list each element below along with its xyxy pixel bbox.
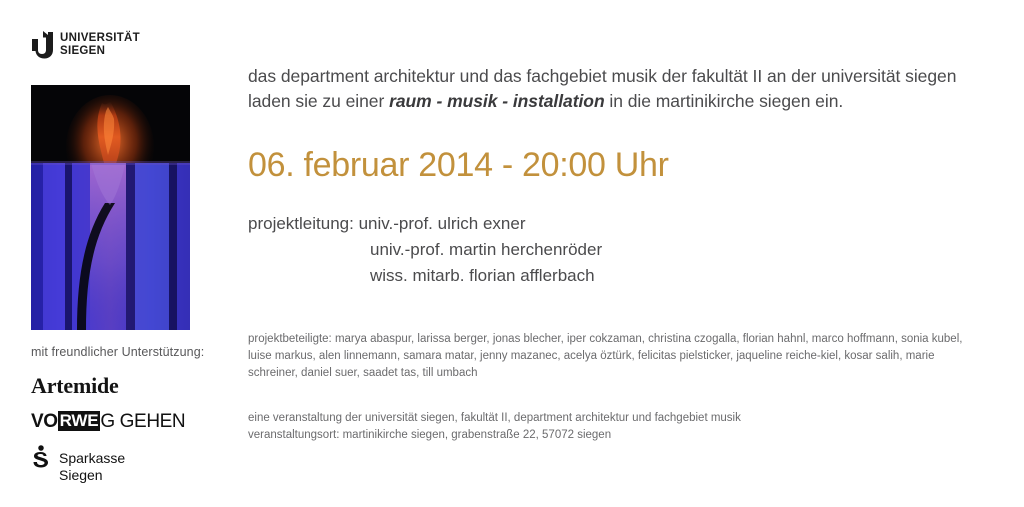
university-logo-icon — [31, 31, 54, 59]
sparkasse-s-icon — [31, 445, 51, 473]
left-column: UNIVERSITÄT SIEGEN — [0, 0, 240, 507]
sponsors-label: mit freundlicher Unterstützung: — [31, 345, 231, 359]
sparkasse-text: Sparkasse Siegen — [59, 445, 125, 484]
footer-line-1: eine veranstaltung der universität siege… — [248, 410, 948, 427]
project-lead-person-1: univ.-prof. ulrich exner — [359, 214, 526, 233]
installation-photo: foto: saadet tas — [31, 85, 190, 330]
sponsor-sparkasse-logo: Sparkasse Siegen — [31, 445, 231, 484]
event-poster: UNIVERSITÄT SIEGEN — [0, 0, 1024, 507]
event-date: 06. februar 2014 - 20:00 Uhr — [248, 147, 669, 184]
photo-artwork — [31, 85, 190, 330]
sponsor-artemide-logo: Artemide — [31, 375, 231, 397]
university-logo-text: UNIVERSITÄT SIEGEN — [60, 32, 140, 58]
footer-line-2: veranstaltungsort: martinikirche siegen,… — [248, 427, 948, 444]
participants-paragraph: projektbeteiligte: marya abaspur, lariss… — [248, 331, 984, 381]
project-leadership: projektleitung: univ.-prof. ulrich exner… — [248, 211, 602, 288]
intro-paragraph: das department architektur und das fachg… — [248, 64, 974, 115]
intro-part2: in die martinikirche siegen ein. — [605, 91, 844, 111]
rwe-suffix: G GEHEN — [100, 412, 185, 431]
project-lead-row: wiss. mitarb. florian afflerbach — [248, 263, 602, 289]
sparkasse-line1: Sparkasse — [59, 450, 125, 467]
project-lead-label: projektleitung: — [248, 214, 354, 233]
sponsors-section: mit freundlicher Unterstützung: Artemide… — [31, 345, 231, 498]
sparkasse-line2: Siegen — [59, 467, 125, 484]
rwe-prefix: VO — [31, 412, 58, 431]
footer-info: eine veranstaltung der universität siege… — [248, 410, 948, 444]
university-logo-line1: UNIVERSITÄT — [60, 32, 140, 45]
sponsor-rwe-logo: VO RWE G GEHEN — [31, 411, 231, 431]
project-lead-person-3: wiss. mitarb. florian afflerbach — [370, 266, 595, 285]
photo-credit-text: foto: saadet tas — [184, 85, 190, 93]
project-lead-row: univ.-prof. martin herchenröder — [248, 237, 602, 263]
intro-emphasis: raum - musik - installation — [389, 91, 605, 111]
rwe-box: RWE — [58, 411, 101, 431]
university-logo-line2: SIEGEN — [60, 45, 140, 58]
project-lead-person-2: univ.-prof. martin herchenröder — [370, 240, 602, 259]
project-lead-row: projektleitung: univ.-prof. ulrich exner — [248, 211, 602, 237]
main-column: das department architektur und das fachg… — [248, 0, 988, 507]
universitaet-siegen-logo: UNIVERSITÄT SIEGEN — [31, 31, 140, 59]
